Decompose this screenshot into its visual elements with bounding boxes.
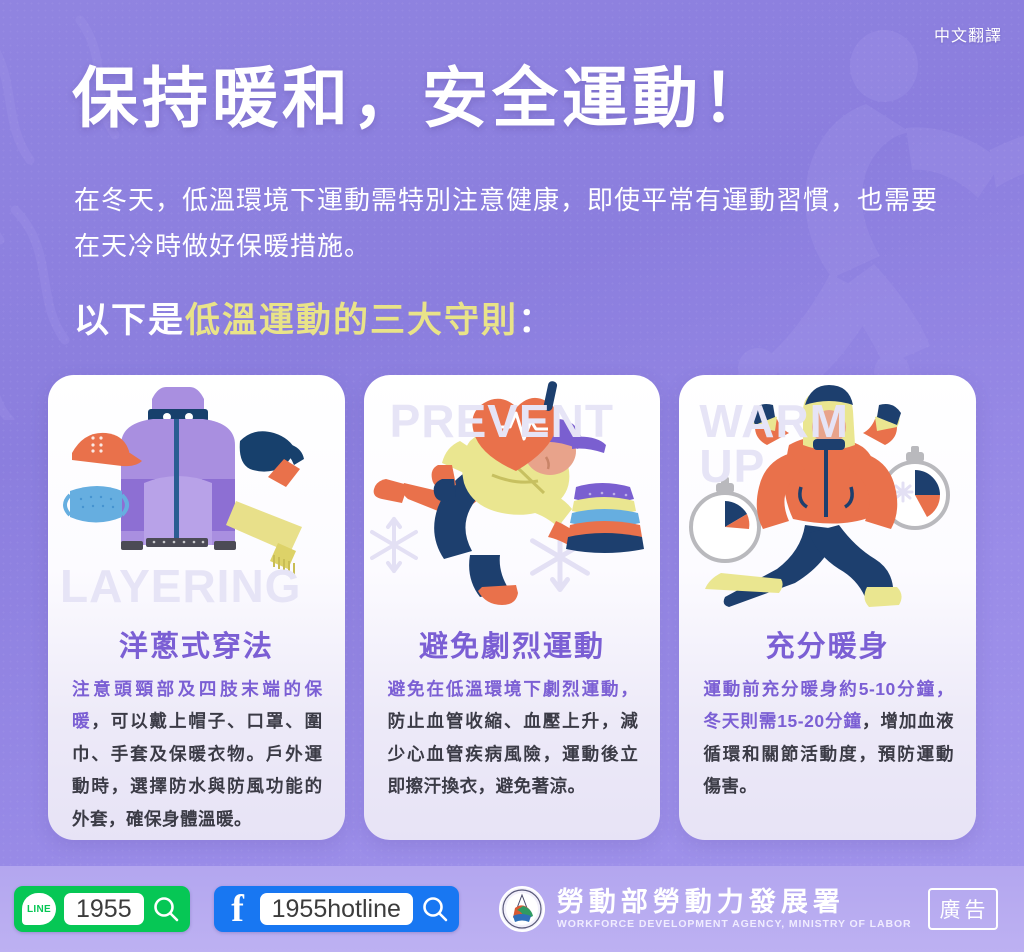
- agency-name-en: WORKFORCE DEVELOPMENT AGENCY, MINISTRY O…: [557, 918, 912, 930]
- leadin-prefix: 以下是: [74, 301, 185, 340]
- card-body: 運動前充分暖身約5-10分鐘，冬天則需15-20分鐘，增加血液循環和關節活動度，…: [703, 673, 954, 803]
- rules-card-list: LAYERING 洋蔥式穿法 注意頭頸部及四肢末端的保暖，可以戴上帽子、口罩、圍…: [48, 375, 976, 840]
- card-title: 避免劇烈運動: [364, 623, 661, 665]
- footer-bar: LINE 1955 f 1955hotline: [0, 866, 1024, 952]
- card-body-rest: ，可以戴上帽子、口罩、圍巾、手套及保暖衣物。戶外運動時，選擇防水與防風功能的外套…: [72, 711, 323, 828]
- card-body-rest: 防止血管收縮、血壓上升，減少心血管疾病風險，運動後立即擦汗換衣，避免著涼。: [388, 711, 639, 796]
- intro-paragraph: 在冬天，低溫環境下運動需特別注意健康，即使平常有運動習慣，也需要在天冷時做好保暖…: [74, 178, 964, 269]
- card-body: 避免在低溫環境下劇烈運動，防止血管收縮、血壓上升，減少心血管疾病風險，運動後立即…: [388, 673, 639, 803]
- leadin-highlight: 低溫運動的三大守則: [185, 301, 518, 340]
- card-title: 洋蔥式穿法: [48, 623, 345, 665]
- card-illustration-area: LAYERING: [48, 375, 345, 615]
- facebook-contact-badge[interactable]: f 1955hotline: [214, 886, 459, 932]
- leadin-text: 以下是低溫運動的三大守則：: [74, 292, 555, 343]
- facebook-page-field[interactable]: 1955hotline: [260, 893, 413, 925]
- facebook-logo-icon: f: [224, 888, 252, 930]
- card-watermark: LAYERING: [60, 564, 301, 609]
- card-watermark: WARM UP: [699, 399, 849, 489]
- infographic-poster: 中文翻譯 保持暖和，安全運動！ 在冬天，低溫環境下運動需特別注意健康，即使平常有…: [0, 0, 1024, 952]
- card-body: 注意頭頸部及四肢末端的保暖，可以戴上帽子、口罩、圍巾、手套及保暖衣物。戶外運動時…: [72, 673, 323, 835]
- card-illustration-area: WARM UP: [679, 375, 976, 615]
- line-id-field[interactable]: 1955: [64, 893, 144, 925]
- agency-name-zh: 勞動部勞動力發展署: [557, 888, 912, 916]
- government-seal-icon: [499, 886, 545, 932]
- language-tag: 中文翻譯: [934, 22, 1002, 46]
- card-body-highlight: 避免在低溫環境下劇烈運動，: [388, 679, 639, 699]
- line-contact-badge[interactable]: LINE 1955: [14, 886, 190, 932]
- rule-card-layering[interactable]: LAYERING 洋蔥式穿法 注意頭頸部及四肢末端的保暖，可以戴上帽子、口罩、圍…: [48, 375, 345, 840]
- search-icon[interactable]: [152, 895, 180, 923]
- agency-text: 勞動部勞動力發展署 WORKFORCE DEVELOPMENT AGENCY, …: [557, 888, 912, 930]
- rule-card-warmup[interactable]: WARM UP 充分暖身 運動前充分暖身約5-10分鐘，冬天則需15-20分鐘，…: [679, 375, 976, 840]
- rule-card-prevent[interactable]: PREVENT 避免劇烈運動 避免在低溫環境下劇烈運動，防止血管收縮、血壓上升，…: [364, 375, 661, 840]
- line-logo-icon: LINE: [22, 893, 56, 925]
- card-watermark: PREVENT: [390, 399, 614, 444]
- leadin-suffix: ：: [518, 301, 555, 340]
- agency-branding: 勞動部勞動力發展署 WORKFORCE DEVELOPMENT AGENCY, …: [499, 886, 912, 932]
- card-illustration-area: PREVENT: [364, 375, 661, 615]
- ad-badge: 廣告: [928, 888, 998, 930]
- card-title: 充分暖身: [679, 623, 976, 665]
- search-icon[interactable]: [421, 895, 449, 923]
- page-title: 保持暖和，安全運動！: [72, 62, 772, 135]
